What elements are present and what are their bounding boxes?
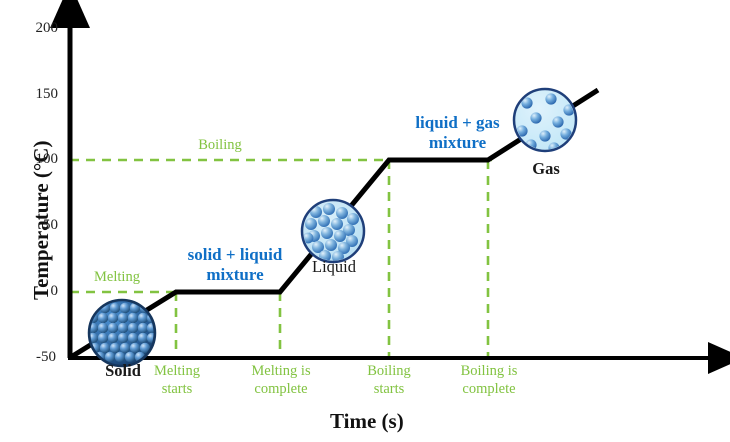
x-axis-title: Time (s): [330, 410, 404, 432]
x-label-boiling-complete-line2: complete: [462, 381, 515, 397]
x-label-melting-complete-line2: complete: [254, 381, 307, 397]
liquid-gas-mixture-label: liquid + gas mixture: [385, 113, 530, 154]
axes: [68, 18, 716, 358]
y-tick-100: 100: [18, 152, 58, 168]
x-label-boiling-starts-line2: starts: [374, 381, 405, 397]
boiling-line-label: Boiling: [185, 138, 255, 153]
y-tick-50: 50: [18, 218, 58, 234]
x-label-boiling-complete: Boiling is complete: [440, 362, 538, 398]
melting-line-label: Melting: [82, 270, 152, 285]
heating-curve-figure: Temperature (°C) Time (s) 200 150 100 50…: [0, 0, 730, 442]
solid-particle-bubble: [88, 300, 157, 366]
x-label-melting-starts-line2: starts: [162, 381, 193, 397]
liquid-gas-mixture-line1: liquid + gas: [415, 113, 499, 132]
x-label-melting-complete: Melting is complete: [232, 362, 330, 398]
x-label-melting-starts-line1: Melting: [154, 363, 200, 379]
y-tick-200: 200: [18, 21, 58, 37]
y-tick-0: 0: [18, 284, 58, 300]
x-label-boiling-complete-line1: Boiling is: [461, 363, 518, 379]
liquid-gas-mixture-line2: mixture: [429, 133, 486, 152]
x-label-boiling-starts: Boiling starts: [348, 362, 430, 398]
y-tick-150: 150: [18, 87, 58, 103]
liquid-particle-bubble: [302, 200, 364, 263]
x-label-melting-complete-line1: Melting is: [251, 363, 310, 379]
liquid-state-label: Liquid: [303, 258, 365, 275]
y-tick-minus-50: -50: [16, 350, 56, 366]
solid-liquid-mixture-label: solid + liquid mixture: [160, 245, 310, 286]
solid-liquid-mixture-line1: solid + liquid: [188, 245, 283, 264]
solid-liquid-mixture-line2: mixture: [206, 265, 263, 284]
x-label-melting-starts: Melting starts: [136, 362, 218, 398]
x-label-boiling-starts-line1: Boiling: [367, 363, 411, 379]
gas-state-label: Gas: [515, 160, 577, 177]
